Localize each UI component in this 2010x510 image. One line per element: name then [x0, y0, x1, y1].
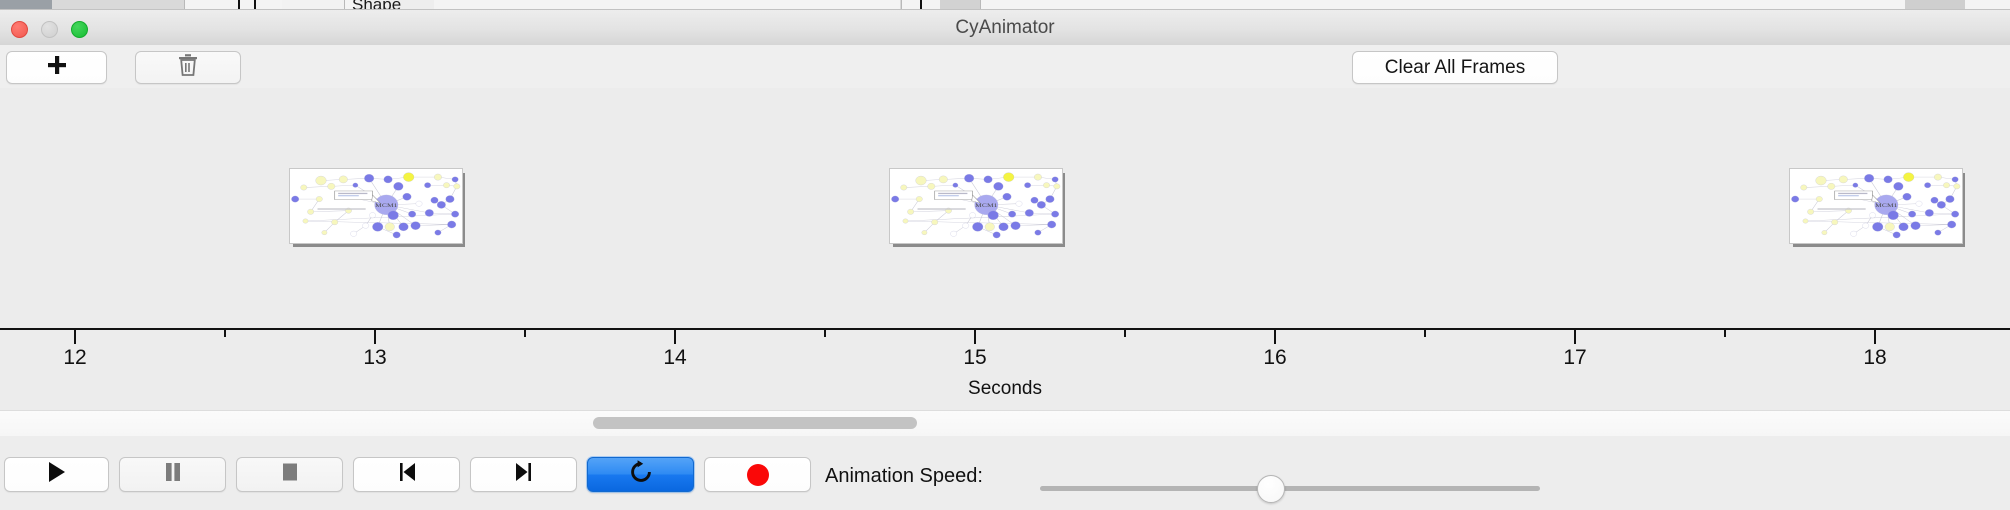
- axis-title: Seconds: [0, 378, 2010, 400]
- axis-tick-label: 16: [1245, 346, 1305, 370]
- svg-text:MCM1: MCM1: [975, 203, 997, 209]
- background-window-strip: Shape: [0, 0, 2010, 10]
- record-icon: [747, 464, 769, 486]
- clear-all-frames-label: Clear All Frames: [1385, 57, 1525, 79]
- svg-text:MCM1: MCM1: [375, 203, 397, 209]
- timeline-frame[interactable]: MCM1: [889, 168, 1061, 242]
- timeline-panel[interactable]: MCM1MCM1MCM1 12131415161718 Seconds: [0, 88, 2010, 410]
- clear-all-frames-button[interactable]: Clear All Frames: [1352, 51, 1558, 84]
- axis-tick-label: 14: [645, 346, 705, 370]
- timeline-scrollbar-thumb[interactable]: [593, 417, 917, 429]
- svg-text:MCM1: MCM1: [1875, 203, 1897, 209]
- plus-icon: [46, 54, 68, 81]
- axis-tick: [1424, 328, 1426, 337]
- trash-icon: [177, 53, 199, 82]
- play-button[interactable]: [4, 457, 109, 492]
- axis-tick: [74, 328, 76, 344]
- axis-tick-label: 18: [1845, 346, 1905, 370]
- loop-button[interactable]: [587, 457, 694, 492]
- axis-tick: [974, 328, 976, 344]
- axis-tick: [1124, 328, 1126, 337]
- title-bar: CyAnimator: [0, 10, 2010, 46]
- playback-control-bar: Animation Speed:: [0, 436, 2010, 510]
- timeline-axis-line: [0, 328, 2010, 330]
- axis-tick-label: 12: [45, 346, 105, 370]
- axis-tick: [224, 328, 226, 337]
- animation-speed-slider-thumb[interactable]: [1257, 475, 1285, 503]
- record-button[interactable]: [704, 457, 811, 492]
- axis-tick: [1574, 328, 1576, 344]
- stop-button[interactable]: [236, 457, 343, 492]
- delete-frame-button[interactable]: [135, 51, 241, 84]
- axis-tick: [674, 328, 676, 344]
- pause-button[interactable]: [119, 457, 226, 492]
- frame-thumbnail: MCM1: [1789, 168, 1963, 244]
- axis-tick: [524, 328, 526, 337]
- timeline-frame[interactable]: MCM1: [289, 168, 461, 242]
- window-title: CyAnimator: [0, 10, 2010, 45]
- animation-speed-label: Animation Speed:: [825, 465, 983, 488]
- axis-tick-label: 17: [1545, 346, 1605, 370]
- stop-icon: [279, 460, 301, 489]
- skip-to-start-button[interactable]: [353, 457, 460, 492]
- axis-tick-label: 15: [945, 346, 1005, 370]
- axis-tick: [1874, 328, 1876, 344]
- axis-tick: [824, 328, 826, 337]
- skip-to-end-button[interactable]: [470, 457, 577, 492]
- timeline-frame[interactable]: MCM1: [1789, 168, 1961, 242]
- cyanimator-window: Shape CyAnimator: [0, 0, 2010, 510]
- loop-icon: [628, 459, 654, 490]
- axis-tick: [1724, 328, 1726, 337]
- frame-thumbnail: MCM1: [889, 168, 1063, 244]
- frame-thumbnail: MCM1: [289, 168, 463, 244]
- timeline-scrollbar[interactable]: [0, 410, 2010, 437]
- skip-to-end-icon: [513, 460, 535, 489]
- animation-speed-slider[interactable]: [1040, 486, 1540, 491]
- play-icon: [46, 460, 68, 489]
- pause-icon: [162, 460, 184, 489]
- skip-to-start-icon: [396, 460, 418, 489]
- axis-tick: [1274, 328, 1276, 344]
- toolbar: Clear All Frames: [0, 45, 2010, 89]
- axis-tick: [374, 328, 376, 344]
- axis-tick-label: 13: [345, 346, 405, 370]
- add-frame-button[interactable]: [6, 51, 107, 84]
